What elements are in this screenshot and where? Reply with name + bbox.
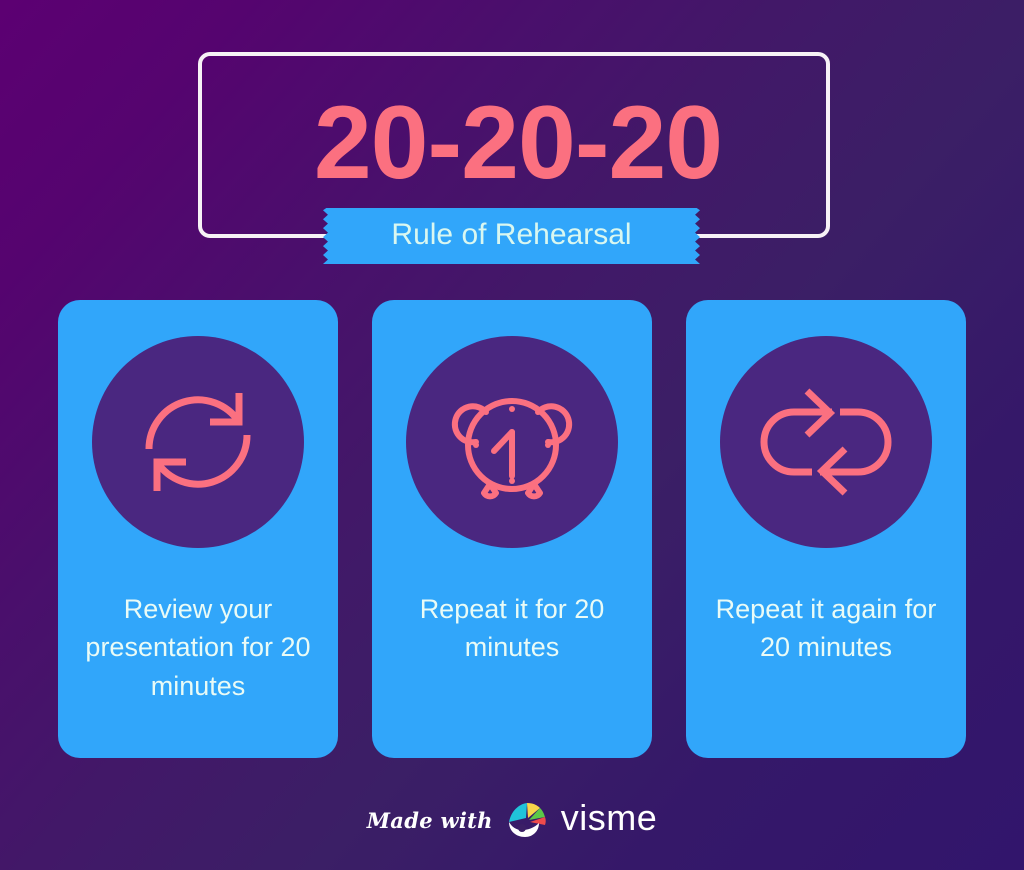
card-repeat-again: Repeat it again for 20 minutes — [686, 300, 966, 758]
card-review-presentation: Review your presentation for 20 minutes — [58, 300, 338, 758]
brand-name: visme — [561, 800, 658, 840]
card-caption: Repeat it again for 20 minutes — [701, 590, 951, 667]
visme-logo-icon — [506, 801, 548, 839]
subtitle-ribbon: Rule of Rehearsal — [323, 208, 700, 264]
icon-circle — [720, 336, 932, 548]
footer-branding: Made with visme — [0, 796, 1024, 844]
ribbon-body: Rule of Rehearsal — [333, 208, 690, 264]
repeat-loop-icon — [760, 386, 892, 498]
ribbon-right-zigzag-edge — [689, 208, 700, 264]
icon-circle — [92, 336, 304, 548]
card-caption: Review your presentation for 20 minutes — [73, 590, 323, 705]
alarm-clock-icon — [450, 379, 574, 505]
icon-circle — [406, 336, 618, 548]
refresh-sync-icon — [135, 382, 261, 502]
subtitle-label: Rule of Rehearsal — [391, 220, 631, 252]
card-caption: Repeat it for 20 minutes — [387, 590, 637, 667]
card-repeat-once: Repeat it for 20 minutes — [372, 300, 652, 758]
made-with-label: Made with — [367, 808, 493, 833]
card-row: Review your presentation for 20 minutes — [58, 300, 966, 758]
